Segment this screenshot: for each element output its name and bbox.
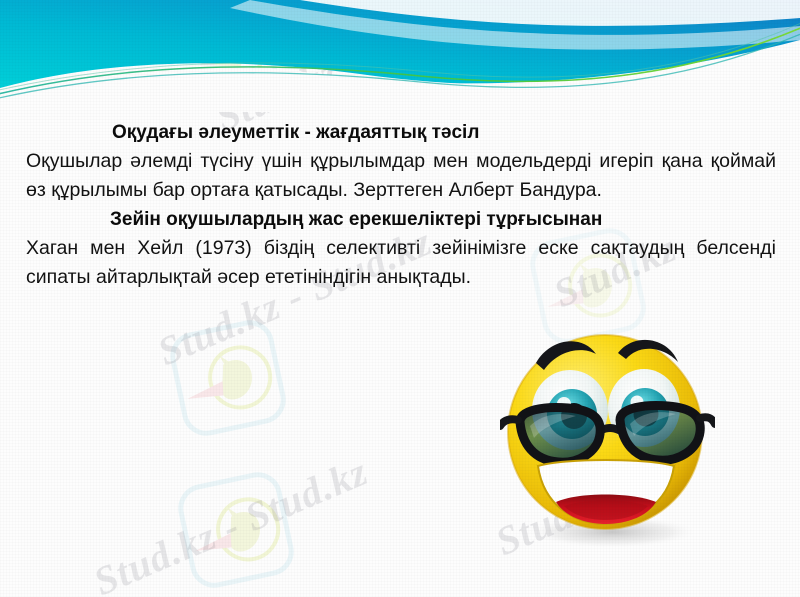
slide-text-content: Оқудағы әлеуметтік - жағдаяттық тәсіл Оқ… xyxy=(26,118,776,292)
heading-social-situational-approach: Оқудағы әлеуметтік - жағдаяттық тәсіл xyxy=(26,118,776,147)
presentation-slide: Stud.kz - Stud.kz Stud.kz - Stud.kz Stud… xyxy=(0,0,800,597)
hummingbird-logo xyxy=(165,459,307,597)
paragraph-social-situational-approach: Оқушылар әлемді түсіну үшін құрылымдар м… xyxy=(26,147,776,205)
hummingbird-logo xyxy=(157,307,299,449)
heading-attention-age-characteristics: Зейін оқушылардың жас ерекшеліктері тұрғ… xyxy=(26,205,776,234)
watermark-text: Stud.kz - Stud.kz xyxy=(87,448,375,597)
smiley-face-image xyxy=(500,326,715,554)
header-decorative-banner xyxy=(0,0,800,112)
paragraph-hagen-hale-study: Хаган мен Хейл (1973) біздің селективті … xyxy=(26,234,776,292)
